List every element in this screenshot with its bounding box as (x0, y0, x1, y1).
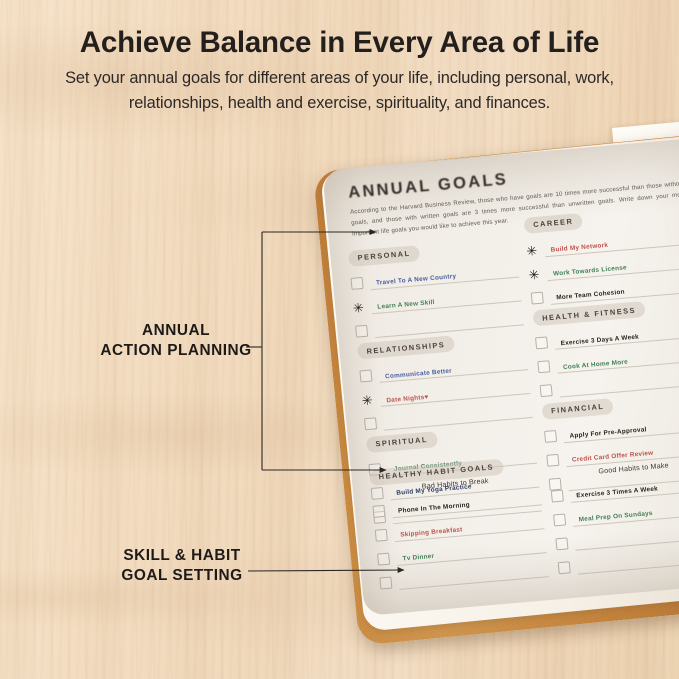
star-marker-icon: ✳ (527, 268, 540, 281)
goal-checkbox[interactable] (535, 336, 548, 349)
goal-section: RELATIONSHIPSCommunicate Better✳Date Nig… (357, 327, 533, 432)
goal-checkbox[interactable] (377, 552, 390, 565)
goal-checkbox[interactable] (375, 528, 388, 541)
star-marker-icon: ✳ (361, 394, 374, 407)
bad-habits-column: Bad Habits to Break Phone In The Morning… (371, 472, 549, 591)
goal-section: PERSONALTravel To A New Country✳Learn A … (348, 234, 524, 339)
goal-checkbox[interactable] (558, 561, 571, 574)
goal-text: Tv Dinner (402, 553, 434, 563)
annual-goals-sheet: ANNUAL GOALS According to the Harvard Bu… (322, 137, 679, 616)
goal-checkbox[interactable] (372, 504, 385, 517)
goal-checkbox[interactable] (531, 291, 544, 304)
goal-checkbox[interactable] (544, 429, 557, 442)
goal-write-line[interactable] (576, 544, 679, 574)
star-marker-icon: ✳ (525, 244, 538, 257)
goal-checkbox[interactable] (540, 384, 553, 397)
goal-checkbox[interactable] (379, 576, 392, 589)
annotation-skill-habit-goal-setting: SKILL & HABIT GOAL SETTING (92, 546, 272, 585)
annotation-line-2: GOAL SETTING (92, 566, 272, 586)
goal-checkbox[interactable] (364, 417, 377, 430)
annotation-line-1: SKILL & HABIT (92, 546, 272, 566)
goal-checkbox[interactable] (537, 360, 550, 373)
goal-write-line[interactable] (398, 560, 549, 590)
annotation-line-2: ACTION PLANNING (96, 341, 256, 361)
star-marker-icon: ✳ (352, 301, 365, 314)
good-habits-column: Good Habits to Make Exercise 3 Times A W… (549, 457, 679, 576)
goal-checkbox[interactable] (555, 537, 568, 550)
goal-section: HEALTH & FITNESSExercise 3 Days A WeekCo… (532, 294, 679, 399)
annotation-line-1: ANNUAL (96, 321, 256, 341)
goal-checkbox[interactable] (350, 276, 363, 289)
goal-text: More Team Cohesion (556, 289, 625, 302)
goal-section: CAREER✳Build My Network✳Work Towards Lic… (523, 201, 679, 306)
goal-checkbox[interactable] (551, 489, 564, 502)
goal-checkbox[interactable] (553, 513, 566, 526)
goal-checkbox[interactable] (355, 324, 368, 337)
annotation-annual-action-planning: ANNUAL ACTION PLANNING (96, 321, 256, 360)
goal-checkbox[interactable] (359, 370, 372, 383)
